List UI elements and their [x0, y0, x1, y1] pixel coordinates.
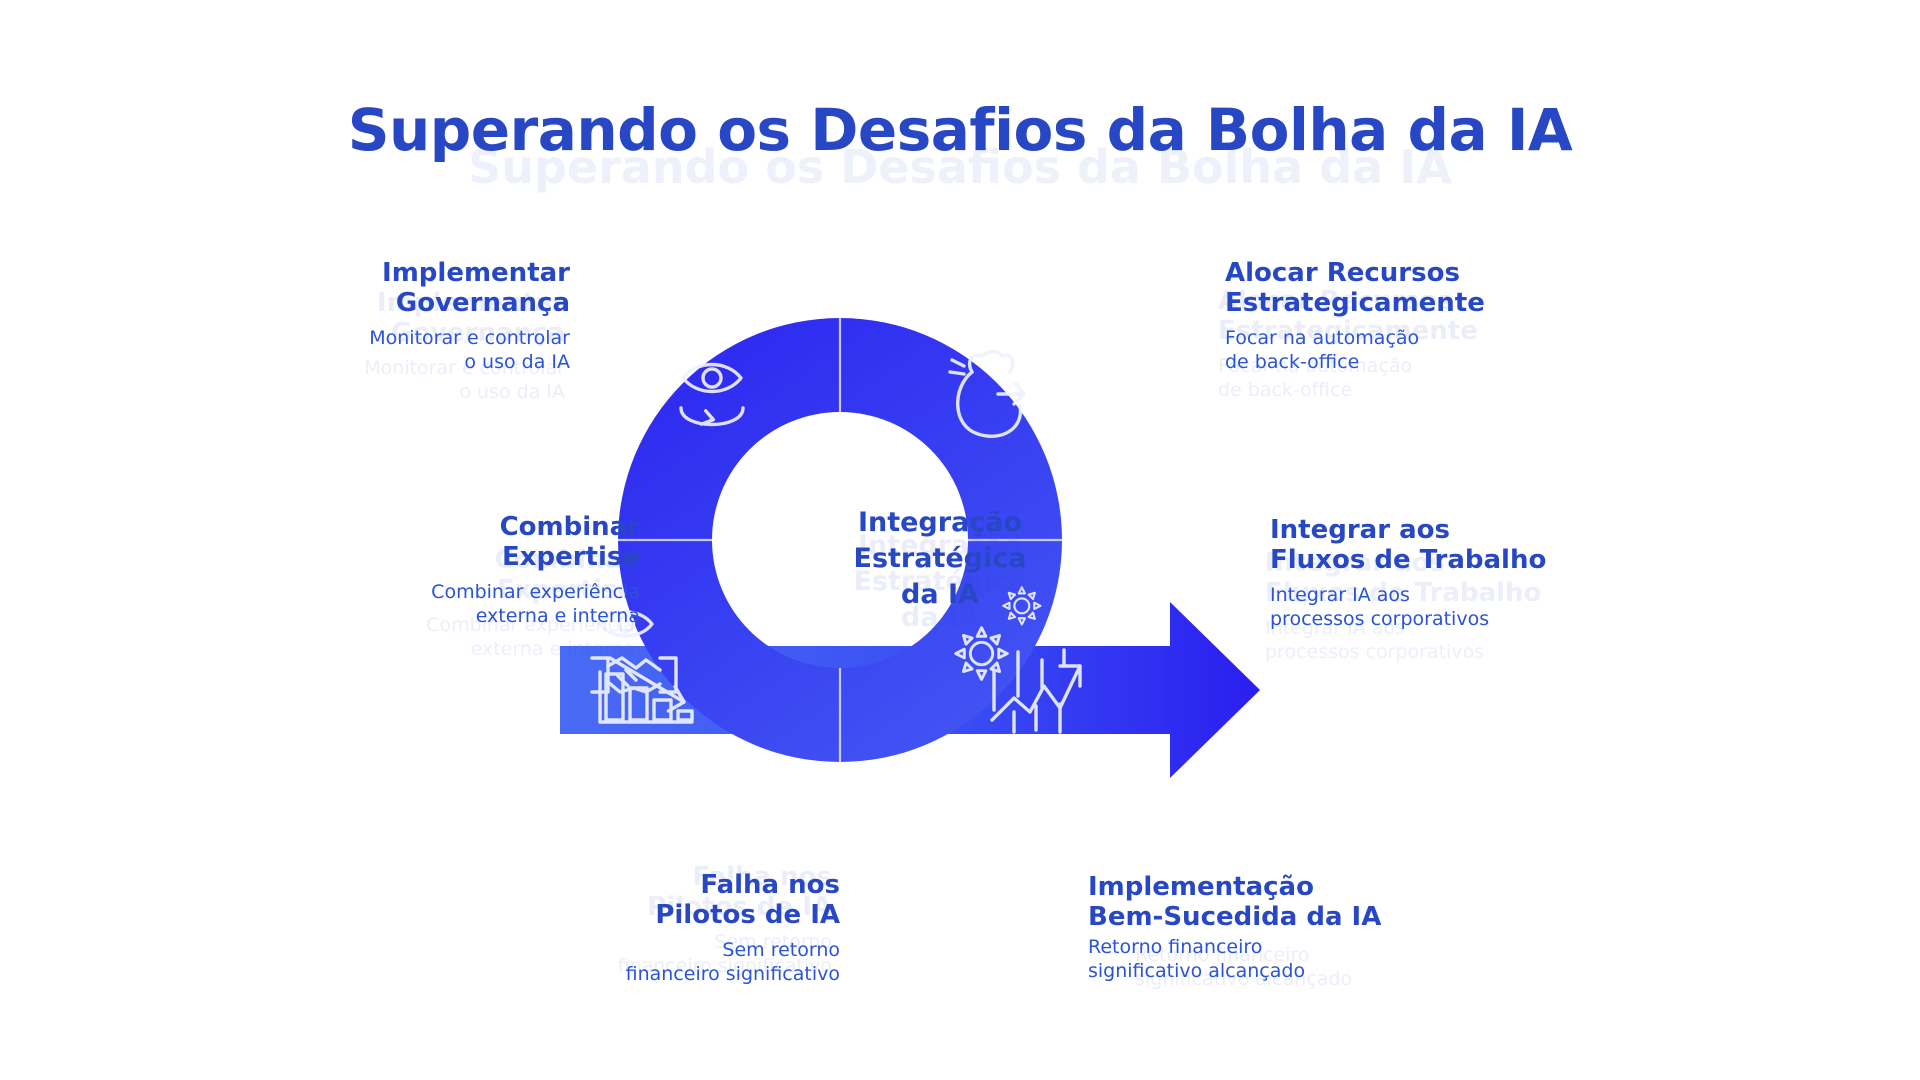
node-sucesso: Implementação Bem-Sucedida da IA Retorno… [1088, 872, 1518, 984]
infographic-canvas: Superando os Desafios da Bolha da IA Sup… [0, 0, 1920, 1080]
subtitle-line1: Retorno financeiro [1088, 936, 1518, 960]
heading-line1: Falha nos [330, 870, 840, 900]
heading-line2: Expertise [200, 542, 640, 572]
node-recursos: Alocar Recursos Estrategicamente Focar n… [1225, 258, 1605, 375]
heading-line1: Alocar Recursos [1225, 258, 1605, 288]
heading-line2: Governança [230, 288, 570, 318]
node-falha: Falha nos Pilotos de IA Sem retorno fina… [330, 870, 840, 987]
node-expertise: Combinar Expertise Combinar experiência … [200, 512, 640, 629]
heading-line1: Implementar [230, 258, 570, 288]
title-container: Superando os Desafios da Bolha da IA [0, 100, 1920, 161]
heading-line2: Pilotos de IA [330, 900, 840, 930]
subtitle-line2: financeiro significativo [330, 963, 840, 987]
node-fluxos-heading: Integrar aos Fluxos de Trabalho [1270, 515, 1670, 575]
heading-line2: Estrategicamente [1225, 288, 1605, 318]
subtitle-line2: significativo alcançado [1088, 960, 1518, 984]
node-falha-subtitle: Sem retorno financeiro significativo [330, 939, 840, 987]
node-fluxos: Integrar aos Fluxos de Trabalho Integrar… [1270, 515, 1670, 632]
node-governanca: Implementar Governança Monitorar e contr… [230, 258, 570, 375]
center-label: Integração Estratégica da IA [845, 505, 1035, 613]
heading-line1: Integrar aos [1270, 515, 1670, 545]
subtitle-line1: Focar na automação [1225, 327, 1605, 351]
node-governanca-subtitle: Monitorar e controlar o uso da IA [230, 327, 570, 375]
heading-line2: Bem-Sucedida da IA [1088, 902, 1518, 932]
node-sucesso-heading: Implementação Bem-Sucedida da IA [1088, 872, 1518, 932]
center-line-2: Estratégica [845, 541, 1035, 577]
subtitle-line2: o uso da IA [230, 351, 570, 375]
node-governanca-heading: Implementar Governança [230, 258, 570, 318]
page-title: Superando os Desafios da Bolha da IA [0, 100, 1920, 161]
node-recursos-subtitle: Focar na automação de back-office [1225, 327, 1605, 375]
subtitle-line2: externa e interna [200, 605, 640, 629]
subtitle-line1: Sem retorno [330, 939, 840, 963]
heading-line2: Fluxos de Trabalho [1270, 545, 1670, 575]
subtitle-line1: Integrar IA aos [1270, 584, 1670, 608]
subtitle-line2: processos corporativos [1270, 608, 1670, 632]
center-line-3: da IA [845, 577, 1035, 613]
node-fluxos-subtitle: Integrar IA aos processos corporativos [1270, 584, 1670, 632]
heading-line1: Implementação [1088, 872, 1518, 902]
heading-line1: Combinar [200, 512, 640, 542]
ghost-subtitle-line2: o uso da IA [225, 381, 565, 405]
node-sucesso-subtitle: Retorno financeiro significativo alcança… [1088, 936, 1518, 984]
node-expertise-heading: Combinar Expertise [200, 512, 640, 572]
subtitle-line2: de back-office [1225, 351, 1605, 375]
node-recursos-heading: Alocar Recursos Estrategicamente [1225, 258, 1605, 318]
subtitle-line1: Monitorar e controlar [230, 327, 570, 351]
subtitle-line1: Combinar experiência [200, 581, 640, 605]
center-line-1: Integração [845, 505, 1035, 541]
node-expertise-subtitle: Combinar experiência externa e interna [200, 581, 640, 629]
node-falha-heading: Falha nos Pilotos de IA [330, 870, 840, 930]
